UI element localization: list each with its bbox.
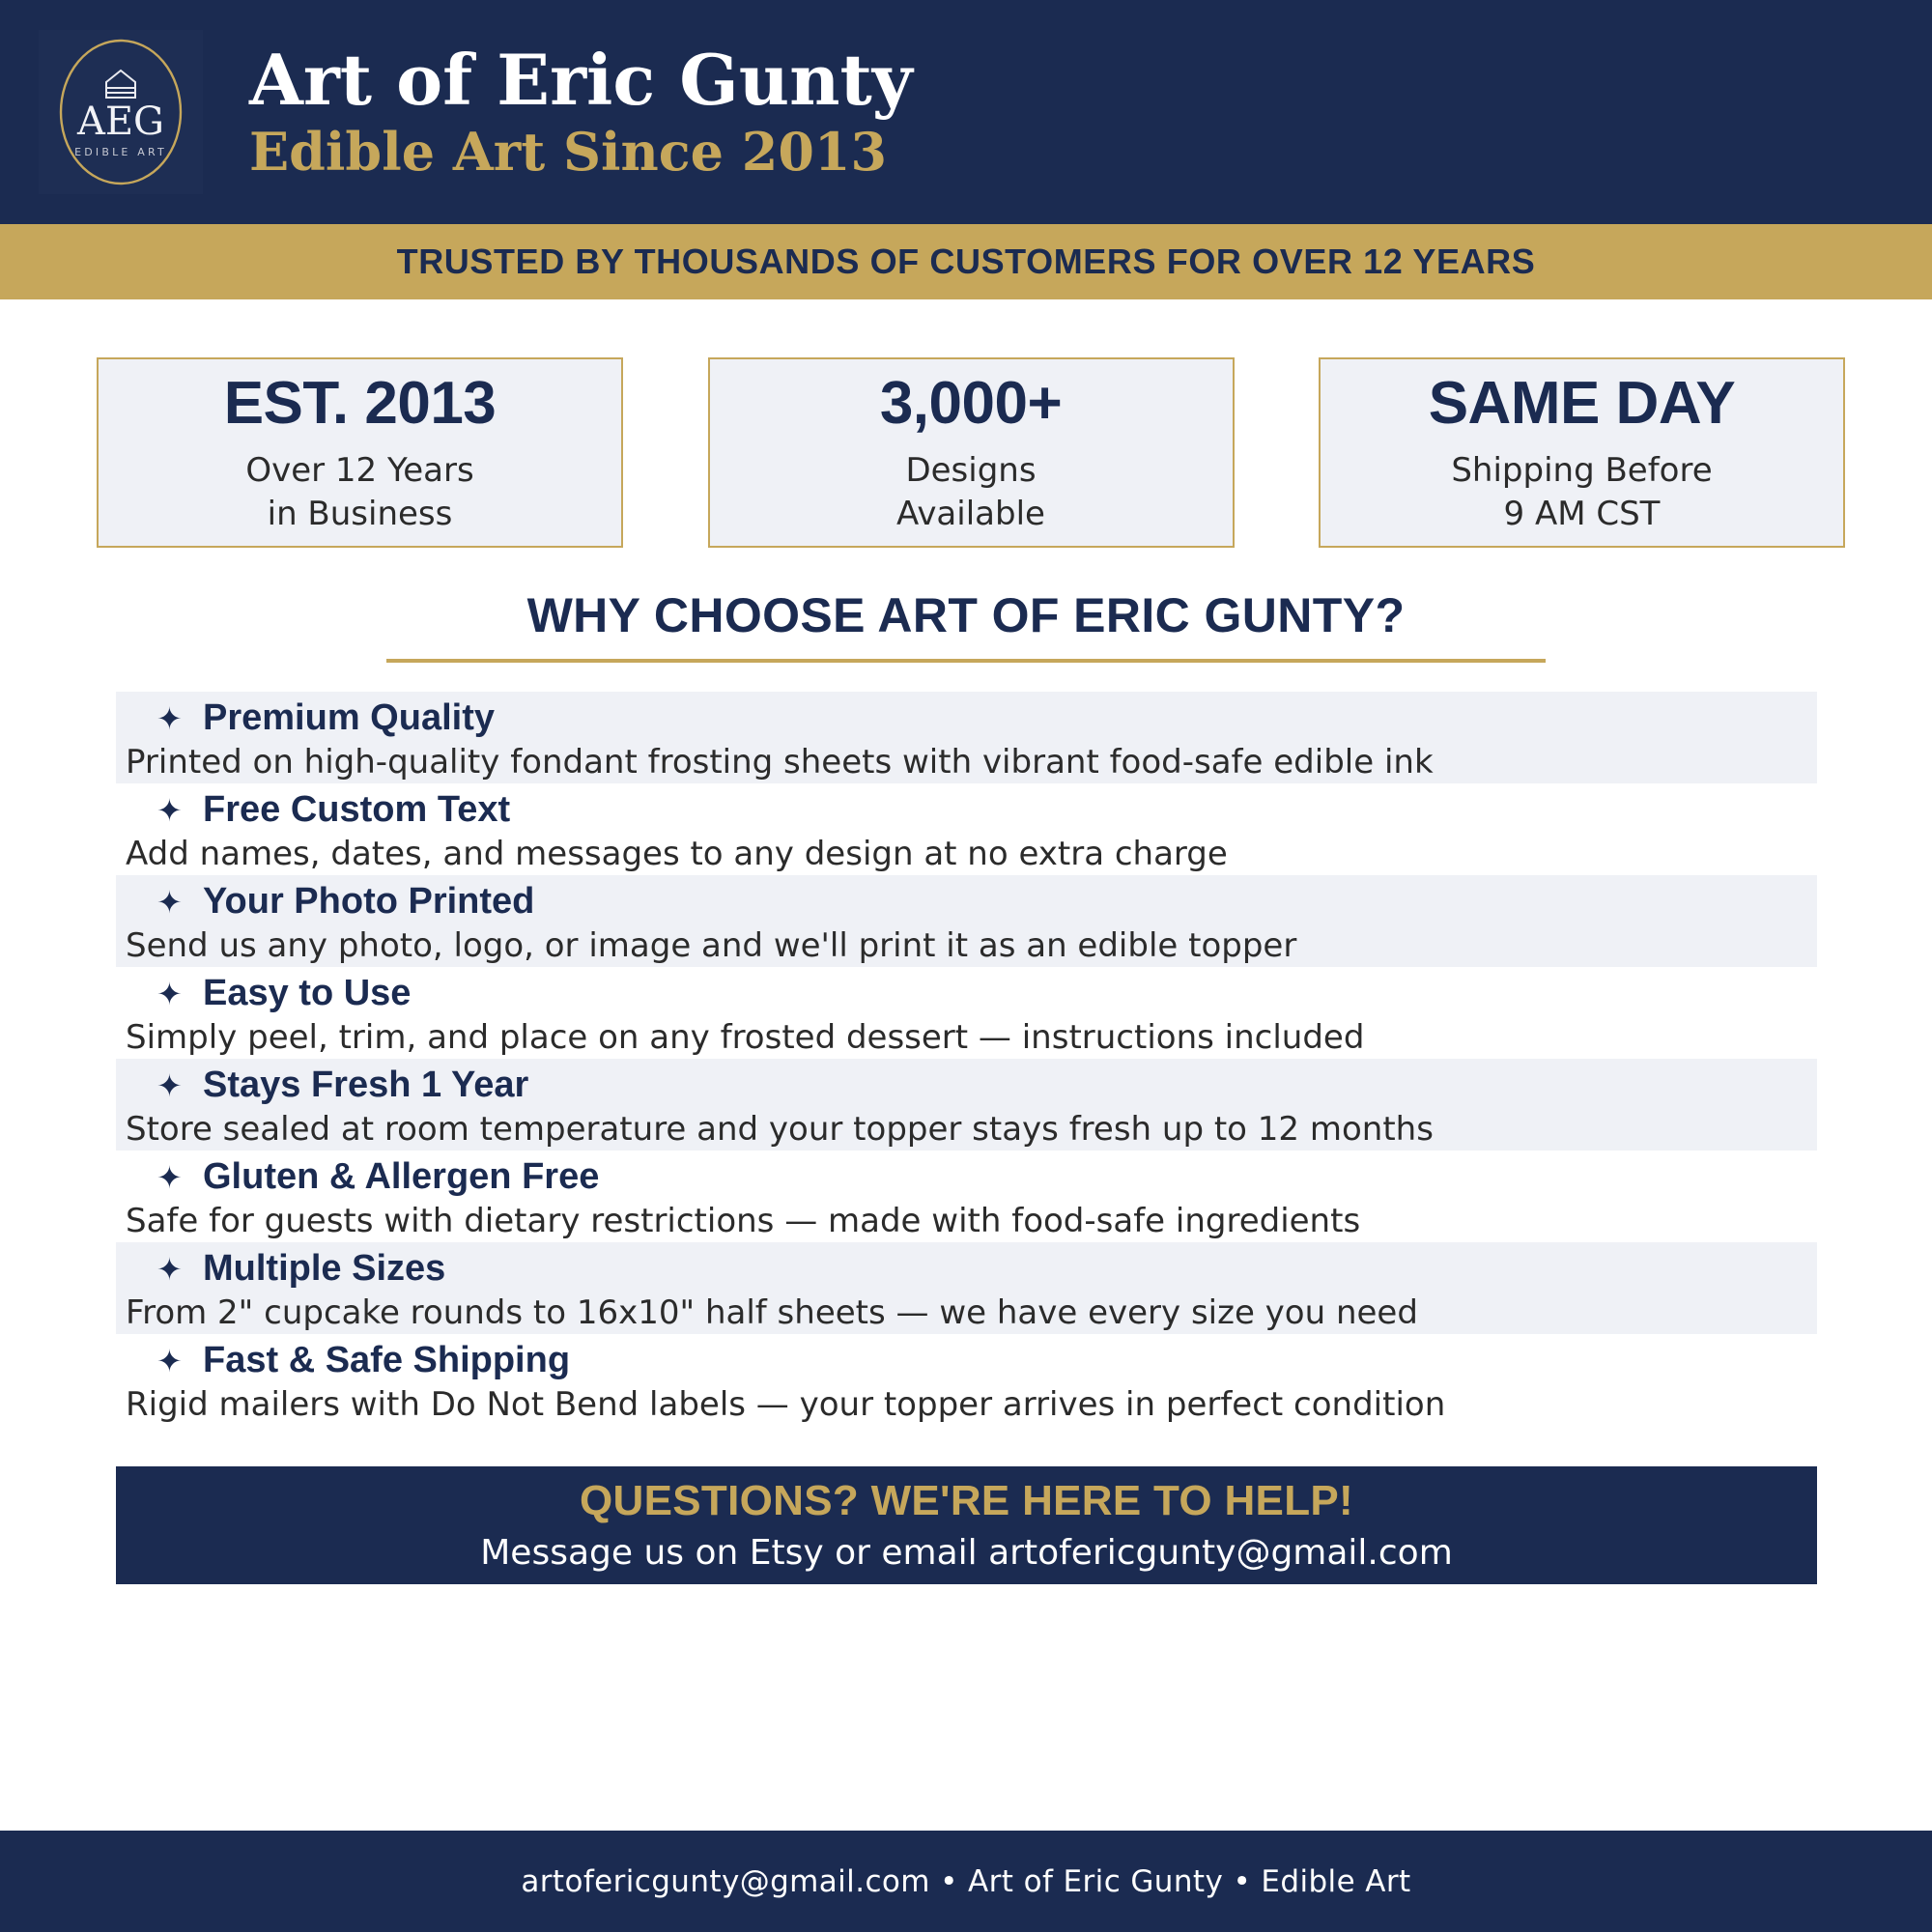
star-bullet-icon: ✦ <box>156 703 203 734</box>
stat-card-shipping: SAME DAY Shipping Before 9 AM CST <box>1319 357 1845 548</box>
feature-title: Free Custom Text <box>203 791 510 830</box>
star-bullet-icon: ✦ <box>156 795 203 826</box>
feature-description: From 2" cupcake rounds to 16x10" half sh… <box>116 1294 1817 1331</box>
feature-title-line: ✦ Multiple Sizes <box>116 1250 1817 1289</box>
contact-cta-banner: QUESTIONS? WE'RE HERE TO HELP! Message u… <box>116 1466 1817 1584</box>
list-item: ✦ Premium Quality Printed on high-qualit… <box>116 692 1817 783</box>
trust-banner-text: TRUSTED BY THOUSANDS OF CUSTOMERS FOR OV… <box>397 241 1536 282</box>
feature-description: Safe for guests with dietary restriction… <box>116 1203 1817 1239</box>
svg-text:AEG: AEG <box>76 99 164 144</box>
feature-title-line: ✦ Fast & Safe Shipping <box>116 1342 1817 1380</box>
star-bullet-icon: ✦ <box>156 887 203 918</box>
section-heading: WHY CHOOSE ART OF ERIC GUNTY? <box>527 587 1406 643</box>
feature-title-line: ✦ Stays Fresh 1 Year <box>116 1066 1817 1105</box>
cta-subtitle: Message us on Etsy or email artofericgun… <box>480 1534 1453 1573</box>
feature-description: Rigid mailers with Do Not Bend labels — … <box>116 1386 1817 1423</box>
feature-title-line: ✦ Free Custom Text <box>116 791 1817 830</box>
list-item: ✦ Stays Fresh 1 Year Store sealed at roo… <box>116 1059 1817 1151</box>
stat-card-designs: 3,000+ Designs Available <box>708 357 1235 548</box>
brand-logo: AEG EDIBLE ART <box>39 30 203 194</box>
stat-label: Over 12 Years in Business <box>245 449 473 536</box>
feature-description: Store sealed at room temperature and you… <box>116 1111 1817 1148</box>
stat-value: SAME DAY <box>1429 374 1736 434</box>
heading-underline-rule <box>386 659 1546 663</box>
feature-title: Premium Quality <box>203 699 495 738</box>
star-bullet-icon: ✦ <box>156 979 203 1009</box>
feature-description: Printed on high-quality fondant frosting… <box>116 744 1817 781</box>
features-list: ✦ Premium Quality Printed on high-qualit… <box>116 692 1817 1426</box>
list-item: ✦ Free Custom Text Add names, dates, and… <box>116 783 1817 875</box>
feature-title: Your Photo Printed <box>203 883 534 922</box>
trust-banner: TRUSTED BY THOUSANDS OF CUSTOMERS FOR OV… <box>0 224 1932 299</box>
feature-title-line: ✦ Gluten & Allergen Free <box>116 1158 1817 1197</box>
cta-title: QUESTIONS? WE'RE HERE TO HELP! <box>580 1478 1353 1524</box>
stat-value: 3,000+ <box>880 374 1062 434</box>
cake-slice-icon <box>106 71 135 98</box>
star-bullet-icon: ✦ <box>156 1070 203 1101</box>
star-bullet-icon: ✦ <box>156 1254 203 1285</box>
brand-tagline: Edible Art Since 2013 <box>249 123 913 181</box>
page-header: AEG EDIBLE ART Art of Eric Gunty Edible … <box>0 0 1932 224</box>
svg-text:EDIBLE ART: EDIBLE ART <box>74 146 167 158</box>
list-item: ✦ Gluten & Allergen Free Safe for guests… <box>116 1151 1817 1242</box>
promo-banner-page: AEG EDIBLE ART Art of Eric Gunty Edible … <box>0 0 1932 1932</box>
stat-card-est: EST. 2013 Over 12 Years in Business <box>97 357 623 548</box>
page-footer: artofericgunty@gmail.com • Art of Eric G… <box>0 1831 1932 1932</box>
feature-description: Send us any photo, logo, or image and we… <box>116 927 1817 964</box>
header-text-block: Art of Eric Gunty Edible Art Since 2013 <box>249 43 913 182</box>
stat-label: Shipping Before 9 AM CST <box>1451 449 1712 536</box>
star-bullet-icon: ✦ <box>156 1162 203 1193</box>
feature-title-line: ✦ Premium Quality <box>116 699 1817 738</box>
stat-label: Designs Available <box>896 449 1045 536</box>
stats-row: EST. 2013 Over 12 Years in Business 3,00… <box>97 357 1845 548</box>
stat-value: EST. 2013 <box>224 374 497 434</box>
feature-description: Add names, dates, and messages to any de… <box>116 836 1817 872</box>
feature-title-line: ✦ Your Photo Printed <box>116 883 1817 922</box>
feature-description: Simply peel, trim, and place on any fros… <box>116 1019 1817 1056</box>
feature-title: Fast & Safe Shipping <box>203 1342 570 1380</box>
brand-title: Art of Eric Gunty <box>249 43 913 117</box>
footer-text: artofericgunty@gmail.com • Art of Eric G… <box>521 1864 1410 1899</box>
feature-title: Multiple Sizes <box>203 1250 445 1289</box>
section-heading-block: WHY CHOOSE ART OF ERIC GUNTY? <box>0 587 1932 663</box>
feature-title: Easy to Use <box>203 975 411 1013</box>
star-bullet-icon: ✦ <box>156 1346 203 1377</box>
feature-title: Gluten & Allergen Free <box>203 1158 599 1197</box>
feature-title: Stays Fresh 1 Year <box>203 1066 528 1105</box>
list-item: ✦ Fast & Safe Shipping Rigid mailers wit… <box>116 1334 1817 1426</box>
aeg-logo-icon: AEG EDIBLE ART <box>39 30 203 194</box>
list-item: ✦ Multiple Sizes From 2" cupcake rounds … <box>116 1242 1817 1334</box>
list-item: ✦ Your Photo Printed Send us any photo, … <box>116 875 1817 967</box>
feature-title-line: ✦ Easy to Use <box>116 975 1817 1013</box>
list-item: ✦ Easy to Use Simply peel, trim, and pla… <box>116 967 1817 1059</box>
